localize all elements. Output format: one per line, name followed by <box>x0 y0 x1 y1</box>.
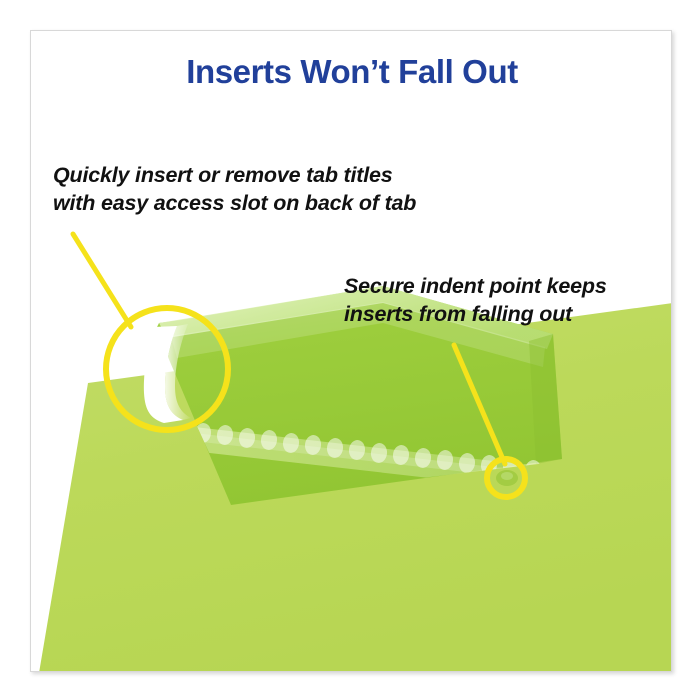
image-frame: Inserts Won’t Fall Out Quickly insert or… <box>30 30 672 672</box>
callout-indent-point: Secure indent point keeps inserts from f… <box>344 272 607 329</box>
callout-indent-point-line-1: Secure indent point keeps <box>344 272 607 300</box>
secure-indent-point <box>496 470 518 486</box>
callout-leader-left <box>73 234 131 327</box>
page-title: Inserts Won’t Fall Out <box>31 53 672 91</box>
product-illustration <box>31 31 672 672</box>
callout-indent-point-line-2: inserts from falling out <box>344 300 607 328</box>
callout-access-slot-line-1: Quickly insert or remove tab titles <box>53 161 416 189</box>
product-feature-image: Inserts Won’t Fall Out Quickly insert or… <box>0 0 700 700</box>
callout-access-slot-line-2: with easy access slot on back of tab <box>53 189 416 217</box>
callout-access-slot: Quickly insert or remove tab titles with… <box>53 161 416 218</box>
